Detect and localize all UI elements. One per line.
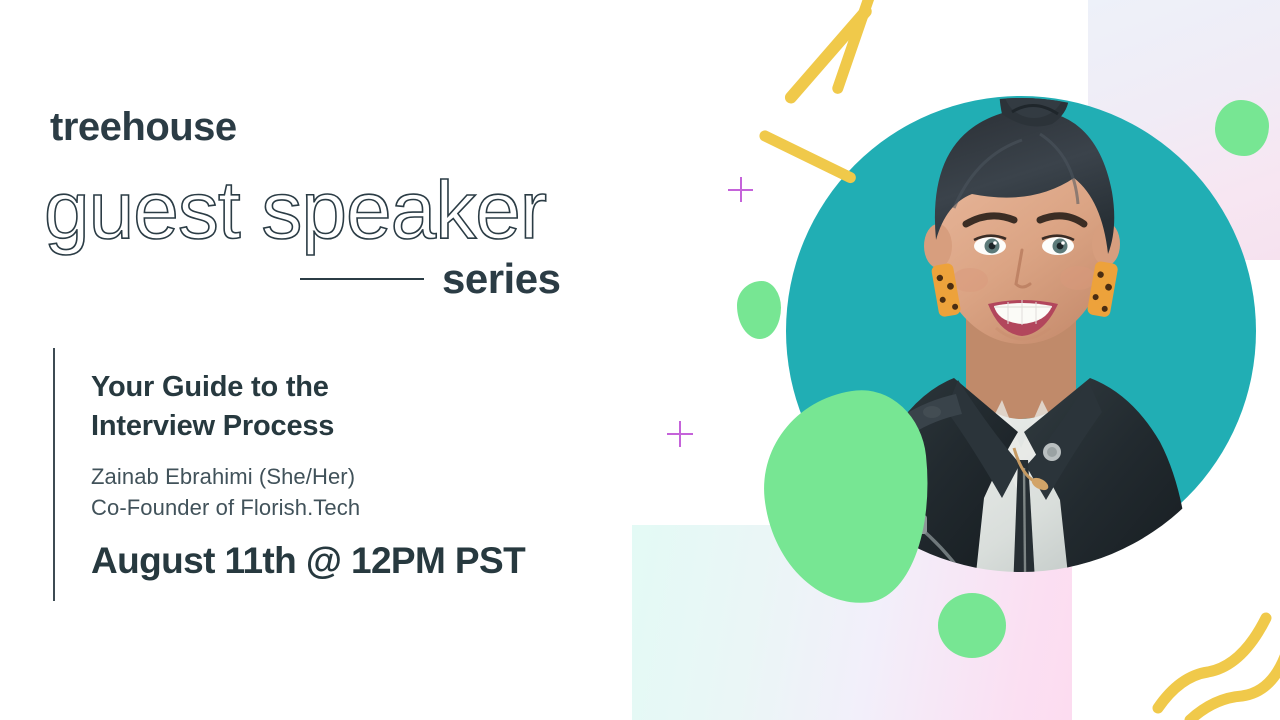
green-blob-icon xyxy=(938,593,1006,658)
series-divider-rule xyxy=(300,278,424,280)
speaker-role: Co-Founder of Florish.Tech xyxy=(91,492,651,523)
brand-wordmark: treehouse xyxy=(50,107,237,147)
text-column: treehouse guest speaker series Your Guid… xyxy=(0,0,660,720)
promo-slide: treehouse guest speaker series Your Guid… xyxy=(0,0,1280,720)
plus-mark-icon xyxy=(728,177,753,202)
series-label-row: series xyxy=(300,258,560,300)
event-datetime: August 11th @ 12PM PST xyxy=(91,541,651,582)
talk-title: Your Guide to the Interview Process xyxy=(91,368,651,445)
plus-mark-icon xyxy=(667,421,693,447)
series-label: series xyxy=(442,258,560,300)
yellow-wave-icon xyxy=(1150,580,1280,720)
green-blob-icon xyxy=(737,281,781,339)
detail-accent-rule xyxy=(53,348,55,601)
series-headline: guest speaker xyxy=(44,158,644,263)
speaker-name: Zainab Ebrahimi (She/Her) xyxy=(91,461,651,492)
series-headline-text: guest speaker xyxy=(44,165,546,256)
event-details: Your Guide to the Interview Process Zain… xyxy=(91,368,651,581)
